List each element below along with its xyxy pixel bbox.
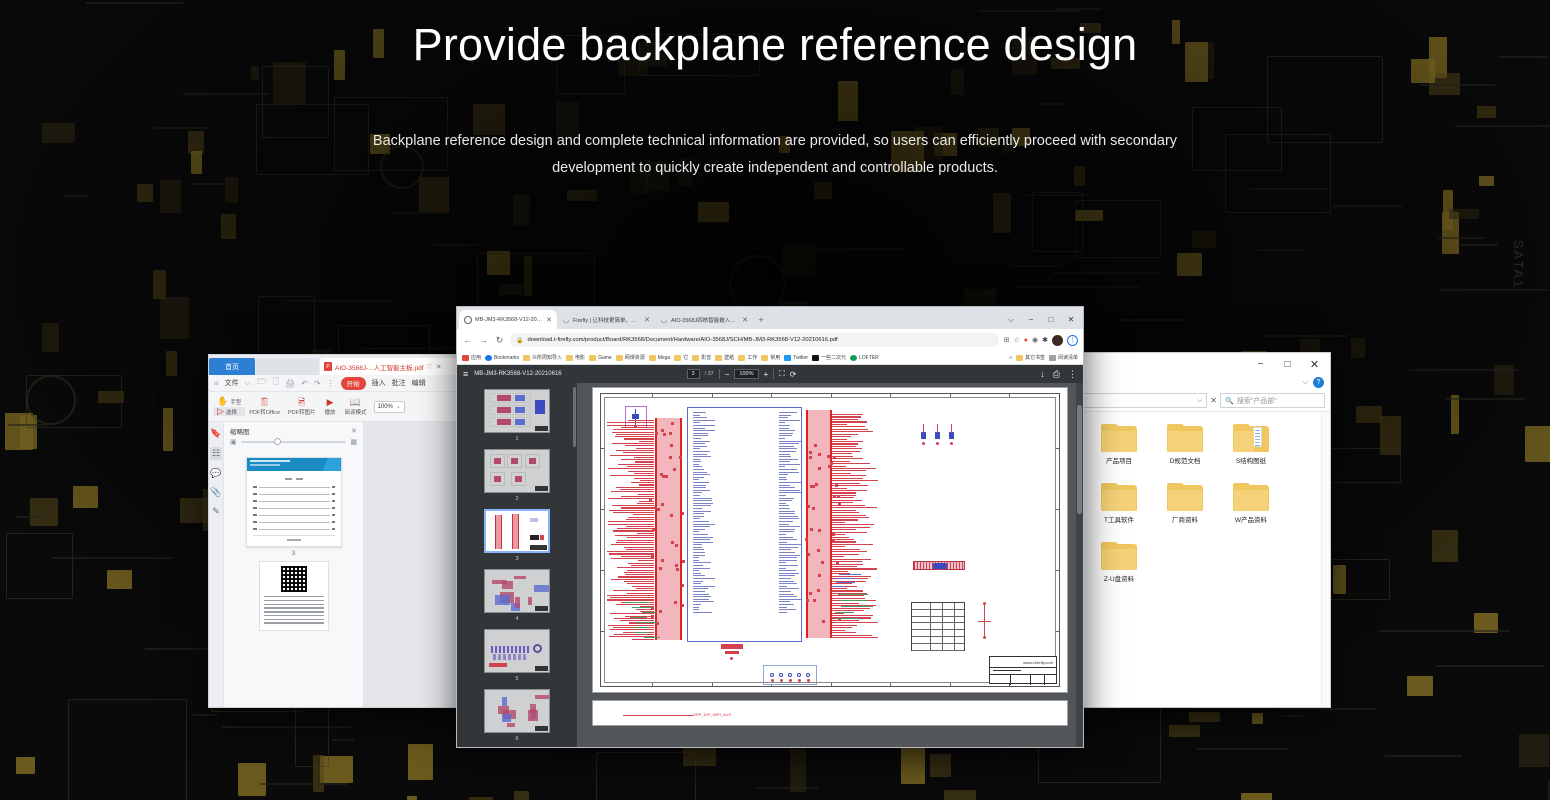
pdf-thumbnail-5[interactable] bbox=[484, 629, 550, 673]
pdf-thumbnail-1[interactable] bbox=[484, 389, 550, 433]
wps-document-tab[interactable]: P AIO-3568J-...人工智能主板.pdf ♡ ✕ bbox=[320, 358, 459, 375]
ribbon-button-reading-mode[interactable]: 📖 阅读模式 bbox=[341, 398, 371, 416]
bookmark-item[interactable]: 壁纸 bbox=[715, 354, 734, 361]
wps-side-rail: 🔖 ☷ 💬 📎 ✎ bbox=[209, 422, 224, 707]
bookmark-item[interactable]: 电影 bbox=[566, 354, 585, 361]
page-total: / 37 bbox=[705, 371, 714, 377]
ribbon-button-play-label: 播放 bbox=[325, 408, 336, 416]
help-icon[interactable]: ? bbox=[1313, 377, 1324, 388]
pdf-thumbnail-number: 6 bbox=[457, 736, 577, 742]
search-input[interactable]: 🔍 搜索"产品部" bbox=[1220, 393, 1325, 408]
bookmark-item[interactable]: 它 bbox=[674, 354, 688, 361]
document-icon bbox=[1253, 427, 1262, 447]
bookmark-item[interactable]: 影音 bbox=[692, 354, 711, 361]
bookmark-label: 壁纸 bbox=[724, 354, 734, 361]
pdf-to-office-icon: 🖺 bbox=[261, 398, 268, 407]
ribbon-button-reading-mode-label: 阅读模式 bbox=[345, 408, 367, 416]
pdf-thumbnail-3[interactable] bbox=[484, 509, 550, 553]
bookmark-label: 它 bbox=[683, 354, 688, 361]
maximize-button[interactable]: □ bbox=[1274, 353, 1301, 375]
folder-icon bbox=[1233, 424, 1269, 452]
close-icon[interactable]: ✕ bbox=[742, 316, 748, 324]
tab-search-icon[interactable]: ⌵ bbox=[1001, 310, 1021, 329]
browser-tab-2[interactable]: ◡ Firefly | 让科技更简单，让生活... ✕ bbox=[557, 310, 655, 329]
folder-name: 厂商资料 bbox=[1172, 514, 1198, 524]
pdf-page-3: www.t-firefly.com bbox=[592, 387, 1068, 693]
search-placeholder: 搜索"产品部" bbox=[1237, 396, 1277, 406]
wps-thumb-size-slider[interactable] bbox=[241, 441, 347, 443]
ribbon-button-pdf-to-image[interactable]: 🖻 PDF转图片 bbox=[284, 398, 320, 416]
wps-ribbon-toolbar: ✋ 手型 ▷ 选择 🖺 PDF转Office 🖻 PDF转图片 ▶ 播放 bbox=[209, 392, 459, 422]
bookmark-item[interactable]: 网课资源 bbox=[616, 354, 645, 361]
bookmarks-overflow-label: » bbox=[1009, 355, 1012, 361]
undo-icon[interactable]: ↶ bbox=[301, 379, 308, 388]
folder-icon bbox=[1101, 483, 1137, 511]
hero-section: Provide backplane reference design Backp… bbox=[0, 18, 1550, 182]
wps-thumb-size-slider-row[interactable]: ▣ ▦ bbox=[224, 438, 363, 451]
folder-name: T工具软件 bbox=[1104, 514, 1134, 524]
folder-name: 产品项目 bbox=[1106, 455, 1132, 465]
explorer-file-grid-area[interactable]: 产品项目 D规范文档 S结构图纸 bbox=[1082, 412, 1330, 707]
extension-red-icon[interactable]: ● bbox=[1024, 337, 1028, 344]
download-icon[interactable]: ↓ bbox=[1040, 369, 1045, 379]
ribbon-tab-insert[interactable]: 插入 bbox=[372, 378, 386, 388]
ribbon-tab-edit[interactable]: 编辑 bbox=[412, 378, 426, 388]
chevron-down-icon[interactable]: ⌄ bbox=[396, 403, 401, 410]
address-bar[interactable]: 🔒 download.t-firefly.com/product/Board/R… bbox=[510, 333, 999, 347]
extension-dark-icon[interactable]: ✱ bbox=[1042, 336, 1048, 344]
net-line bbox=[623, 715, 693, 716]
rotate-icon[interactable]: ⟳ bbox=[790, 370, 797, 379]
drawing-frame bbox=[600, 393, 1060, 687]
pdf-thumbnail-2[interactable] bbox=[484, 449, 550, 493]
reading-list-button[interactable]: 阅读清单 bbox=[1049, 354, 1078, 361]
folder-icon bbox=[1101, 424, 1137, 452]
bookmark-item[interactable]: 一些二次元 bbox=[812, 354, 846, 361]
bookmarks-overflow-button[interactable]: » bbox=[1009, 355, 1012, 361]
browser-tab-bar: MB-JM3-RK3568-V12-20210... ✕ ◡ Firefly |… bbox=[457, 307, 1083, 329]
back-button[interactable]: ← bbox=[462, 335, 473, 345]
title-block: www.t-firefly.com bbox=[989, 656, 1057, 684]
wps-tab-spacer bbox=[256, 358, 319, 375]
folder-icon bbox=[1233, 483, 1269, 511]
profile-icon[interactable]: ⋮ bbox=[1067, 335, 1078, 346]
bookmark-item[interactable]: Bookmarks bbox=[485, 355, 519, 361]
bookmark-item[interactable]: Twitter bbox=[784, 355, 808, 361]
folder-item[interactable]: 厂商资料 bbox=[1152, 483, 1218, 524]
bookmark-label: Mega bbox=[658, 355, 671, 361]
print-icon[interactable]: 🖨 bbox=[285, 379, 295, 388]
bookmark-item[interactable]: 工作 bbox=[738, 354, 757, 361]
wps-document-tab-label: AIO-3568J-...人工智能主板.pdf bbox=[335, 362, 424, 372]
close-icon[interactable]: ✕ bbox=[351, 427, 357, 435]
ribbon-button-play[interactable]: ▶ 播放 bbox=[320, 398, 341, 416]
pdf-viewer-toolbar: ≡ MB-JM3-RK3568-V12-20210616 3 / 37 − 10… bbox=[457, 365, 1083, 383]
bookmark-label: 电影 bbox=[575, 354, 585, 361]
wps-document-canvas[interactable] bbox=[364, 422, 459, 707]
pdf-filename: MB-JM3-RK3568-V12-20210616 bbox=[474, 371, 561, 377]
bookmark-label: 其它书签 bbox=[1025, 354, 1045, 361]
qr-code-icon bbox=[281, 566, 307, 592]
page-title: Provide backplane reference design bbox=[0, 18, 1550, 72]
bookmark-label: 阅读清单 bbox=[1058, 354, 1078, 361]
close-icon[interactable]: ✕ bbox=[644, 316, 650, 324]
chevron-down-icon[interactable]: ⌵ bbox=[1303, 379, 1308, 387]
zoom-out-button[interactable]: − bbox=[725, 370, 730, 379]
wps-menu-bar: ≡ 文件 ⌵ 🗁 🗋 🖨 ↶ ↷ ⋮ 开始 插入 批注 编辑 bbox=[209, 375, 459, 392]
pdf-to-image-icon: 🖻 bbox=[298, 398, 305, 407]
browser-tab-3[interactable]: ◡ AIO-3568J四核智能嵌入式人工智能... ✕ bbox=[655, 310, 753, 329]
firefly-icon: ◡ bbox=[660, 316, 668, 324]
close-icon[interactable]: ✕ bbox=[436, 363, 442, 371]
pdf-viewer: ≡ MB-JM3-RK3568-V12-20210616 3 / 37 − 10… bbox=[457, 365, 1083, 747]
wps-thumbnail-number: 3 bbox=[292, 551, 295, 557]
firefly-icon: ◡ bbox=[562, 316, 570, 324]
browser-tab-1-title: MB-JM3-RK3568-V12-20210... bbox=[475, 317, 543, 323]
folder-item[interactable]: Z-U盘资料 bbox=[1086, 542, 1152, 583]
bookmark-item[interactable]: 常用 bbox=[761, 354, 780, 361]
explorer-file-grid: 产品项目 D规范文档 S结构图纸 bbox=[1086, 424, 1330, 601]
bookmark-item[interactable]: Game bbox=[589, 355, 612, 361]
chevron-down-icon[interactable]: ⌵ bbox=[1197, 397, 1202, 405]
pdf-thumbnail-number: 3 bbox=[457, 556, 577, 562]
doc-footer bbox=[253, 535, 335, 541]
bookmark-label: LOFTER bbox=[859, 355, 879, 361]
search-icon: 🔍 bbox=[1225, 397, 1234, 405]
lock-icon: 🔒 bbox=[516, 337, 523, 344]
pdf-thumbnail-6[interactable] bbox=[484, 689, 550, 733]
ribbon-tab-home[interactable]: 开始 bbox=[341, 377, 366, 390]
bookmark-label: 一些二次元 bbox=[821, 354, 846, 361]
ribbon-button-pdf-to-office[interactable]: 🖺 PDF转Office bbox=[245, 398, 284, 416]
folder-item[interactable]: W产品资料 bbox=[1218, 483, 1284, 524]
hamburger-icon[interactable]: ≡ bbox=[463, 369, 468, 379]
pdf-viewer-actions: ↓ ⎙ ⋮ bbox=[1040, 369, 1077, 380]
browser-tab-2-title: Firefly | 让科技更简单，让生活... bbox=[573, 316, 641, 324]
bookmark-label: 众所周知导入 bbox=[532, 354, 562, 361]
wps-body: 🔖 ☷ 💬 📎 ✎ 缩略图 ✕ ▣ ▦ bbox=[209, 422, 459, 707]
new-tab-button[interactable]: + bbox=[753, 310, 769, 329]
folder-item[interactable]: D规范文档 bbox=[1152, 424, 1218, 465]
ribbon-button-pdf-to-office-label: PDF转Office bbox=[249, 408, 280, 416]
folder-icon bbox=[1167, 483, 1203, 511]
folder-item[interactable]: T工具软件 bbox=[1086, 483, 1152, 524]
play-icon: ▶ bbox=[327, 398, 334, 407]
hand-icon: ✋ bbox=[217, 397, 228, 406]
book-icon: 📖 bbox=[350, 398, 361, 407]
refresh-icon[interactable]: ✕ bbox=[1210, 396, 1217, 405]
reload-button[interactable]: ↻ bbox=[494, 335, 505, 346]
browser-window-controls: ⌵ − □ ✕ bbox=[1001, 310, 1081, 329]
hero-subtitle-line2: development to quickly create independen… bbox=[305, 155, 1245, 182]
bookmark-label: 影音 bbox=[701, 354, 711, 361]
chevron-down-icon[interactable]: ⌵ bbox=[245, 378, 251, 388]
net-label: DRP_DIP_MIPI_AUX bbox=[693, 712, 731, 717]
browser-toolbar: ← → ↻ 🔒 download.t-firefly.com/product/B… bbox=[457, 329, 1083, 351]
pdf-vertical-scrollbar[interactable] bbox=[1076, 383, 1083, 747]
doc-header-banner bbox=[247, 458, 341, 471]
ribbon-button-select[interactable]: ▷ 选择 bbox=[213, 407, 245, 416]
maximize-button[interactable]: □ bbox=[1041, 310, 1061, 329]
schematic-drawing: www.t-firefly.com bbox=[593, 388, 1067, 692]
pdf-thumbnail-4[interactable] bbox=[484, 569, 550, 613]
redo-icon[interactable]: ↷ bbox=[314, 379, 321, 388]
large-thumb-icon[interactable]: ▦ bbox=[350, 438, 357, 446]
wps-pdf-editor-window[interactable]: 首页 P AIO-3568J-...人工智能主板.pdf ♡ ✕ ≡ 文件 ⌵ … bbox=[208, 354, 460, 708]
doc-body bbox=[247, 471, 341, 546]
attachment-icon[interactable]: 📎 bbox=[210, 487, 221, 498]
more-icon[interactable]: ⋮ bbox=[327, 379, 335, 388]
wps-thumbnail-panel: 缩略图 ✕ ▣ ▦ bbox=[224, 422, 364, 707]
bookmark-label: 应用 bbox=[471, 354, 481, 361]
pdf-page-4-partial: DRP_DIP_MIPI_AUX bbox=[592, 700, 1068, 726]
cursor-icon: ▷ bbox=[217, 407, 224, 416]
comment-icon[interactable]: 💬 bbox=[210, 468, 221, 479]
wps-home-tab[interactable]: 首页 bbox=[209, 358, 255, 375]
page-icon bbox=[464, 316, 472, 324]
pdf-page-area[interactable]: www.t-firefly.com DRP_DIP_MIPI_AUX bbox=[577, 383, 1083, 747]
qr-page-lines bbox=[264, 596, 324, 624]
pdf-thumbnail-number: 2 bbox=[457, 496, 577, 502]
bookmark-label: 工作 bbox=[747, 354, 757, 361]
new-file-icon[interactable]: 🗋 bbox=[273, 376, 279, 390]
folder-icon bbox=[1167, 424, 1203, 452]
folder-icon bbox=[1101, 542, 1137, 570]
ribbon-button-hand-label: 手型 bbox=[230, 398, 241, 406]
doc-title-lines bbox=[253, 478, 335, 480]
bookmarks-bar: 应用 Bookmarks 众所周知导入 电影 Game 网课资源 Mega 它 … bbox=[457, 351, 1083, 365]
bookmark-icon[interactable]: 🔖 bbox=[210, 428, 221, 439]
extension-gray-icon[interactable]: ◉ bbox=[1032, 336, 1038, 344]
folder-item[interactable]: 产品项目 bbox=[1086, 424, 1152, 465]
page-number-input[interactable]: 3 bbox=[687, 369, 700, 379]
wps-tab-strip: 首页 P AIO-3568J-...人工智能主板.pdf ♡ ✕ bbox=[209, 355, 459, 375]
pdf-thumbnail-sidebar[interactable]: 1 2 3 4 5 6 bbox=[457, 383, 577, 747]
wps-thumbnail-page[interactable] bbox=[246, 457, 342, 547]
ribbon-button-pdf-to-image-label: PDF转图片 bbox=[288, 408, 316, 416]
folder-name: D规范文档 bbox=[1170, 455, 1201, 465]
chrome-browser-window[interactable]: MB-JM3-RK3568-V12-20210... ✕ ◡ Firefly |… bbox=[456, 306, 1084, 748]
browser-actions: ⊞ ☆ ● ◉ ✱ ⋮ bbox=[1004, 335, 1078, 346]
ribbon-button-hand[interactable]: ✋ 手型 bbox=[213, 397, 245, 406]
fit-page-icon[interactable]: ⛶ bbox=[779, 369, 785, 379]
wps-panel-header: 缩略图 ✕ bbox=[224, 422, 363, 438]
ribbon-tab-comment[interactable]: 批注 bbox=[392, 378, 406, 388]
hero-subtitle-line1: Backplane reference design and complete … bbox=[305, 128, 1245, 155]
bookmark-label: 网课资源 bbox=[625, 354, 645, 361]
hamburger-icon[interactable]: ≡ bbox=[214, 379, 219, 388]
wps-thumbnail-qr-page[interactable] bbox=[259, 561, 329, 631]
install-icon[interactable]: ⊞ bbox=[1004, 336, 1010, 344]
wps-zoom-value: 100% bbox=[378, 404, 393, 410]
bookmark-item[interactable]: 应用 bbox=[462, 354, 481, 361]
browser-tab-3-title: AIO-3568J四核智能嵌入式人工智能... bbox=[671, 316, 739, 324]
avatar[interactable] bbox=[1052, 335, 1063, 346]
zoom-value[interactable]: 100% bbox=[734, 369, 758, 379]
pdf-thumbnail-number: 4 bbox=[457, 616, 577, 622]
minimize-button[interactable]: − bbox=[1247, 353, 1274, 375]
pdf-thumbnail-number: 5 bbox=[457, 676, 577, 682]
close-button[interactable]: ✕ bbox=[1061, 310, 1081, 329]
address-bar-url: download.t-firefly.com/product/Board/RK3… bbox=[527, 337, 837, 343]
thumbnail-scrollbar[interactable] bbox=[573, 387, 576, 447]
signature-icon[interactable]: ✎ bbox=[212, 506, 220, 517]
thumbnail-icon[interactable]: ☷ bbox=[210, 447, 222, 460]
close-icon[interactable]: ✕ bbox=[546, 316, 552, 324]
small-thumb-icon[interactable]: ▣ bbox=[230, 438, 237, 446]
wps-panel-title: 缩略图 bbox=[230, 426, 250, 436]
pdf-page-controls: 3 / 37 − 100% + ⛶ ⟳ bbox=[687, 369, 797, 379]
bookmark-other[interactable]: 其它书签 bbox=[1016, 354, 1045, 361]
bookmark-label: Twitter bbox=[793, 355, 808, 361]
bookmark-item[interactable]: LOFTER bbox=[850, 355, 879, 361]
slider-knob[interactable] bbox=[274, 438, 281, 445]
zoom-in-button[interactable]: + bbox=[764, 370, 769, 379]
pdf-file-icon: P bbox=[324, 362, 332, 371]
forward-button[interactable]: → bbox=[478, 335, 489, 345]
explorer-scrollbar[interactable] bbox=[1321, 412, 1330, 707]
print-icon[interactable]: ⎙ bbox=[1053, 369, 1060, 380]
browser-tab-1[interactable]: MB-JM3-RK3568-V12-20210... ✕ bbox=[459, 310, 557, 329]
folder-name: S结构图纸 bbox=[1236, 455, 1266, 465]
bookmark-item[interactable]: Mega bbox=[649, 355, 671, 361]
folder-name: W产品资料 bbox=[1235, 514, 1267, 524]
wps-thumbnail-list: 3 bbox=[224, 451, 363, 631]
bookmark-item[interactable]: 众所周知导入 bbox=[523, 354, 562, 361]
more-icon[interactable]: ⋮ bbox=[1068, 369, 1077, 380]
pdf-viewer-body: 1 2 3 4 5 6 bbox=[457, 383, 1083, 747]
title-block-url: www.t-firefly.com bbox=[1023, 660, 1053, 665]
ribbon-button-select-label: 选择 bbox=[226, 408, 237, 416]
pdf-thumbnail-number: 1 bbox=[457, 436, 577, 442]
folder-name: Z-U盘资料 bbox=[1104, 573, 1134, 583]
menu-item-file[interactable]: 文件 bbox=[225, 378, 239, 388]
screenshot-root: SATA1 Provide backplane reference design… bbox=[0, 0, 1550, 800]
star-icon[interactable]: ☆ bbox=[1014, 336, 1020, 344]
open-folder-icon[interactable]: 🗁 bbox=[257, 376, 267, 390]
folder-item[interactable]: S结构图纸 bbox=[1218, 424, 1284, 465]
bookmark-label: 常用 bbox=[770, 354, 780, 361]
close-button[interactable]: ✕ bbox=[1301, 353, 1328, 375]
bookmark-label: Bookmarks bbox=[494, 355, 519, 361]
minimize-button[interactable]: − bbox=[1021, 310, 1041, 329]
bookmark-label: Game bbox=[598, 355, 612, 361]
wps-zoom-input[interactable]: 100% ⌄ bbox=[374, 401, 405, 413]
pin-icon[interactable]: ♡ bbox=[427, 363, 433, 371]
